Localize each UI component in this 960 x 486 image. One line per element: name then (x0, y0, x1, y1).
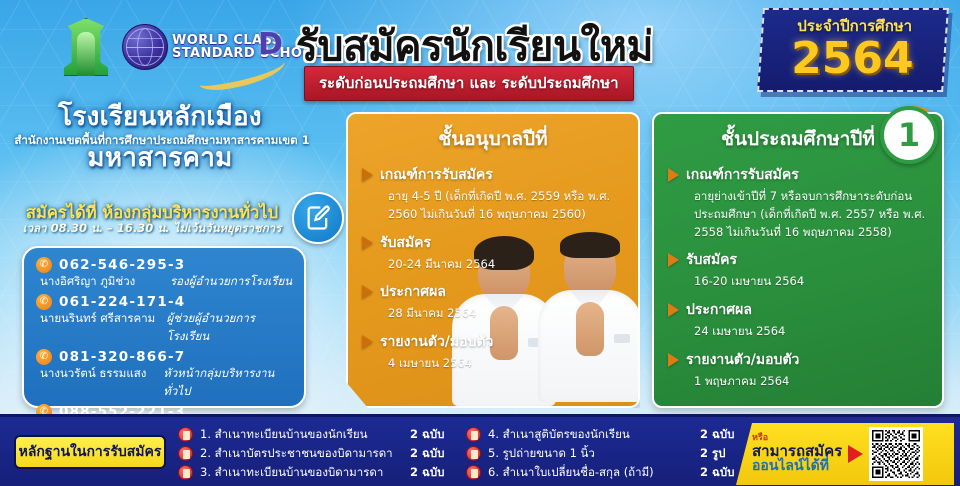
panel-item-label: ประกาศผล (686, 299, 752, 321)
panel-item-label: รับสมัคร (686, 249, 737, 271)
document-row: 4. สำเนาสูติบัตรของนักเรียน 2 ฉบับ (466, 425, 748, 444)
document-qty: 2 ฉบับ (410, 426, 458, 444)
contact-role: ผู้ช่วยผู้อำนวยการโรงเรียน (167, 310, 294, 346)
apply-hours: เวลา 08.30 น. – 16.30 น. ไม่เว้นวันหยุดร… (18, 220, 286, 238)
poster-root: WORLD CLASS STANDARD SCHOOL D โรงเรียนหล… (0, 0, 960, 486)
contact-role: หัวหน้ากลุ่มบริหารงานทั่วไป (163, 365, 294, 401)
document-text: 1. สำเนาทะเบียนบ้านของนักเรียน (200, 426, 403, 444)
arrow-right-icon (668, 303, 679, 317)
logo-row: WORLD CLASS STANDARD SCHOOL D (58, 16, 323, 78)
panel-item-label: รับสมัคร (380, 232, 431, 254)
panel-kindergarten: ชั้นอนุบาลปีที่ เกณฑ์การรับสมัคร อายุ 4-… (346, 112, 640, 408)
document-row: 5. รูปถ่ายขนาด 1 นิ้ว 2 รูป (466, 444, 748, 463)
world-class-standard-school-logo: WORLD CLASS STANDARD SCHOOL D (122, 24, 323, 70)
contact-card: ✆ 062-546-295-3 นางอิศริญา ภูมิช่วง รองผ… (22, 246, 306, 408)
panel-item-value: อายุย่างเข้าปีที่ 7 หรือจบการศึกษาระดับก… (694, 188, 928, 241)
document-text: 4. สำเนาสูติบัตรของนักเรียน (488, 426, 693, 444)
documents-title: หลักฐานในการรับสมัคร (14, 435, 166, 469)
panel-item-value: 4 เมษายน 2564 (388, 355, 624, 373)
school-emblem-icon (58, 16, 114, 78)
online-apply-panel[interactable]: หรือ สามารถสมัคร ออนไลน์ได้ที่ (736, 423, 954, 485)
document-qty: 2 รูป (700, 445, 748, 463)
document-icon (466, 465, 481, 480)
contact-entry: ✆ 081-320-866-7 นางนวรัตน์ ธรรมแสง หัวหน… (36, 349, 294, 401)
panel-item: รายงานตัว/มอบตัว 4 เมษายน 2564 (362, 331, 624, 373)
title-subtitle-banner: ระดับก่อนประถมศึกษา และ ระดับประถมศึกษา (304, 66, 634, 101)
document-icon (466, 446, 481, 461)
contact-phone[interactable]: 081-320-866-7 (59, 349, 185, 365)
document-text: 3. สำเนาทะเบียนบ้านของบิดามารดา (200, 464, 403, 482)
contact-name: นางอิศริญา ภูมิช่วง (40, 273, 164, 291)
panel-item: รายงานตัว/มอบตัว 1 พฤษภาคม 2564 (668, 349, 928, 391)
phone-icon: ✆ (36, 257, 52, 273)
panel-item: รับสมัคร 16-20 เมษายน 2564 (668, 249, 928, 291)
contact-name: นายนรินทร์ ศรีสารคาม (40, 310, 161, 346)
academic-year-number: 2564 (761, 38, 943, 80)
school-area-office: สำนักงานเขตพื้นที่การศึกษาประถมศึกษามหาส… (0, 132, 324, 150)
document-row: 6. สำเนาใบเปลี่ยนชื่อ-สกุล (ถ้ามี) 2 ฉบั… (466, 463, 748, 482)
phone-icon: ✆ (36, 349, 52, 365)
arrow-right-icon (668, 253, 679, 267)
contact-phone[interactable]: 062-546-295-3 (59, 257, 185, 273)
arrow-right-icon (668, 353, 679, 367)
panel-item-label: เกณฑ์การรับสมัคร (380, 164, 493, 186)
panel-item: ประกาศผล 24 เมษายน 2564 (668, 299, 928, 341)
academic-year-box: ประจำปีการศึกษา 2564 (757, 8, 949, 92)
document-icon (178, 446, 193, 461)
globe-icon (122, 24, 168, 70)
panel-item-value: 1 พฤษภาคม 2564 (694, 373, 928, 391)
document-row: 1. สำเนาทะเบียนบ้านของนักเรียน 2 ฉบับ (178, 425, 458, 444)
document-qty: 2 ฉบับ (410, 445, 458, 463)
contact-phone[interactable]: 061-224-171-4 (59, 294, 185, 310)
panel-title: ชั้นอนุบาลปีที่ (348, 114, 638, 154)
arrow-right-icon (362, 168, 373, 182)
arrow-right-icon (362, 285, 373, 299)
wcs-letter-d: D (258, 30, 283, 60)
document-icon (178, 427, 193, 442)
arrow-right-icon (362, 335, 373, 349)
panel-item-value: อายุ 4-5 ปี (เด็กที่เกิดปี พ.ศ. 2559 หรื… (388, 188, 624, 224)
panel-item-label: รายงานตัว/มอบตัว (686, 349, 799, 371)
document-text: 6. สำเนาใบเปลี่ยนชื่อ-สกุล (ถ้ามี) (488, 464, 693, 482)
panel-item: เกณฑ์การรับสมัคร อายุย่างเข้าปีที่ 7 หรื… (668, 164, 928, 241)
document-icon (466, 427, 481, 442)
panel-item: ประกาศผล 28 มีนาคม 2564 (362, 281, 624, 323)
edit-document-icon (292, 192, 344, 244)
panel-item: เกณฑ์การรับสมัคร อายุ 4-5 ปี (เด็กที่เกิ… (362, 164, 624, 224)
arrow-right-icon (362, 236, 373, 250)
qr-line1: สามารถสมัคร (752, 444, 842, 460)
panel-item-label: ประกาศผล (380, 281, 446, 303)
qr-line2: ออนไลน์ได้ที่ (752, 459, 842, 474)
contact-name: นางนวรัตน์ ธรรมแสง (40, 365, 157, 401)
panel-item-value: 20-24 มีนาคม 2564 (388, 256, 624, 274)
phone-icon: ✆ (36, 294, 52, 310)
panel-item-value: 16-20 เมษายน 2564 (694, 273, 928, 291)
document-icon (178, 465, 193, 480)
panel-item-label: รายงานตัว/มอบตัว (380, 331, 493, 353)
documents-bar: หลักฐานในการรับสมัคร 1. สำเนาทะเบียนบ้าน… (0, 414, 960, 486)
documents-column-1: 1. สำเนาทะเบียนบ้านของนักเรียน 2 ฉบับ 2.… (178, 425, 458, 482)
arrow-right-icon (848, 445, 863, 463)
panel-primary: ชั้นประถมศึกษาปีที่ เกณฑ์การรับสมัคร อาย… (652, 112, 944, 408)
document-text: 5. รูปถ่ายขนาด 1 นิ้ว (488, 445, 693, 463)
document-text: 2. สำเนาบัตรประชาชนของบิดามารดา (200, 445, 403, 463)
panel-item-value: 28 มีนาคม 2564 (388, 305, 624, 323)
panel-item-value: 24 เมษายน 2564 (694, 323, 928, 341)
documents-column-2: 4. สำเนาสูติบัตรของนักเรียน 2 ฉบับ 5. รู… (466, 425, 748, 482)
panel-item-label: เกณฑ์การรับสมัคร (686, 164, 799, 186)
contact-entry: ✆ 062-546-295-3 นางอิศริญา ภูมิช่วง รองผ… (36, 257, 294, 291)
qr-code-icon[interactable] (869, 427, 923, 481)
contact-entry: ✆ 061-224-171-4 นายนรินทร์ ศรีสารคาม ผู้… (36, 294, 294, 346)
arrow-right-icon (668, 168, 679, 182)
contact-role: รองผู้อำนวยการโรงเรียน (170, 273, 292, 291)
document-row: 3. สำเนาทะเบียนบ้านของบิดามารดา 2 ฉบับ (178, 463, 458, 482)
document-qty: 2 ฉบับ (700, 426, 748, 444)
document-row: 2. สำเนาบัตรประชาชนของบิดามารดา 2 ฉบับ (178, 444, 458, 463)
panel-item: รับสมัคร 20-24 มีนาคม 2564 (362, 232, 624, 274)
document-qty: 2 ฉบับ (410, 464, 458, 482)
